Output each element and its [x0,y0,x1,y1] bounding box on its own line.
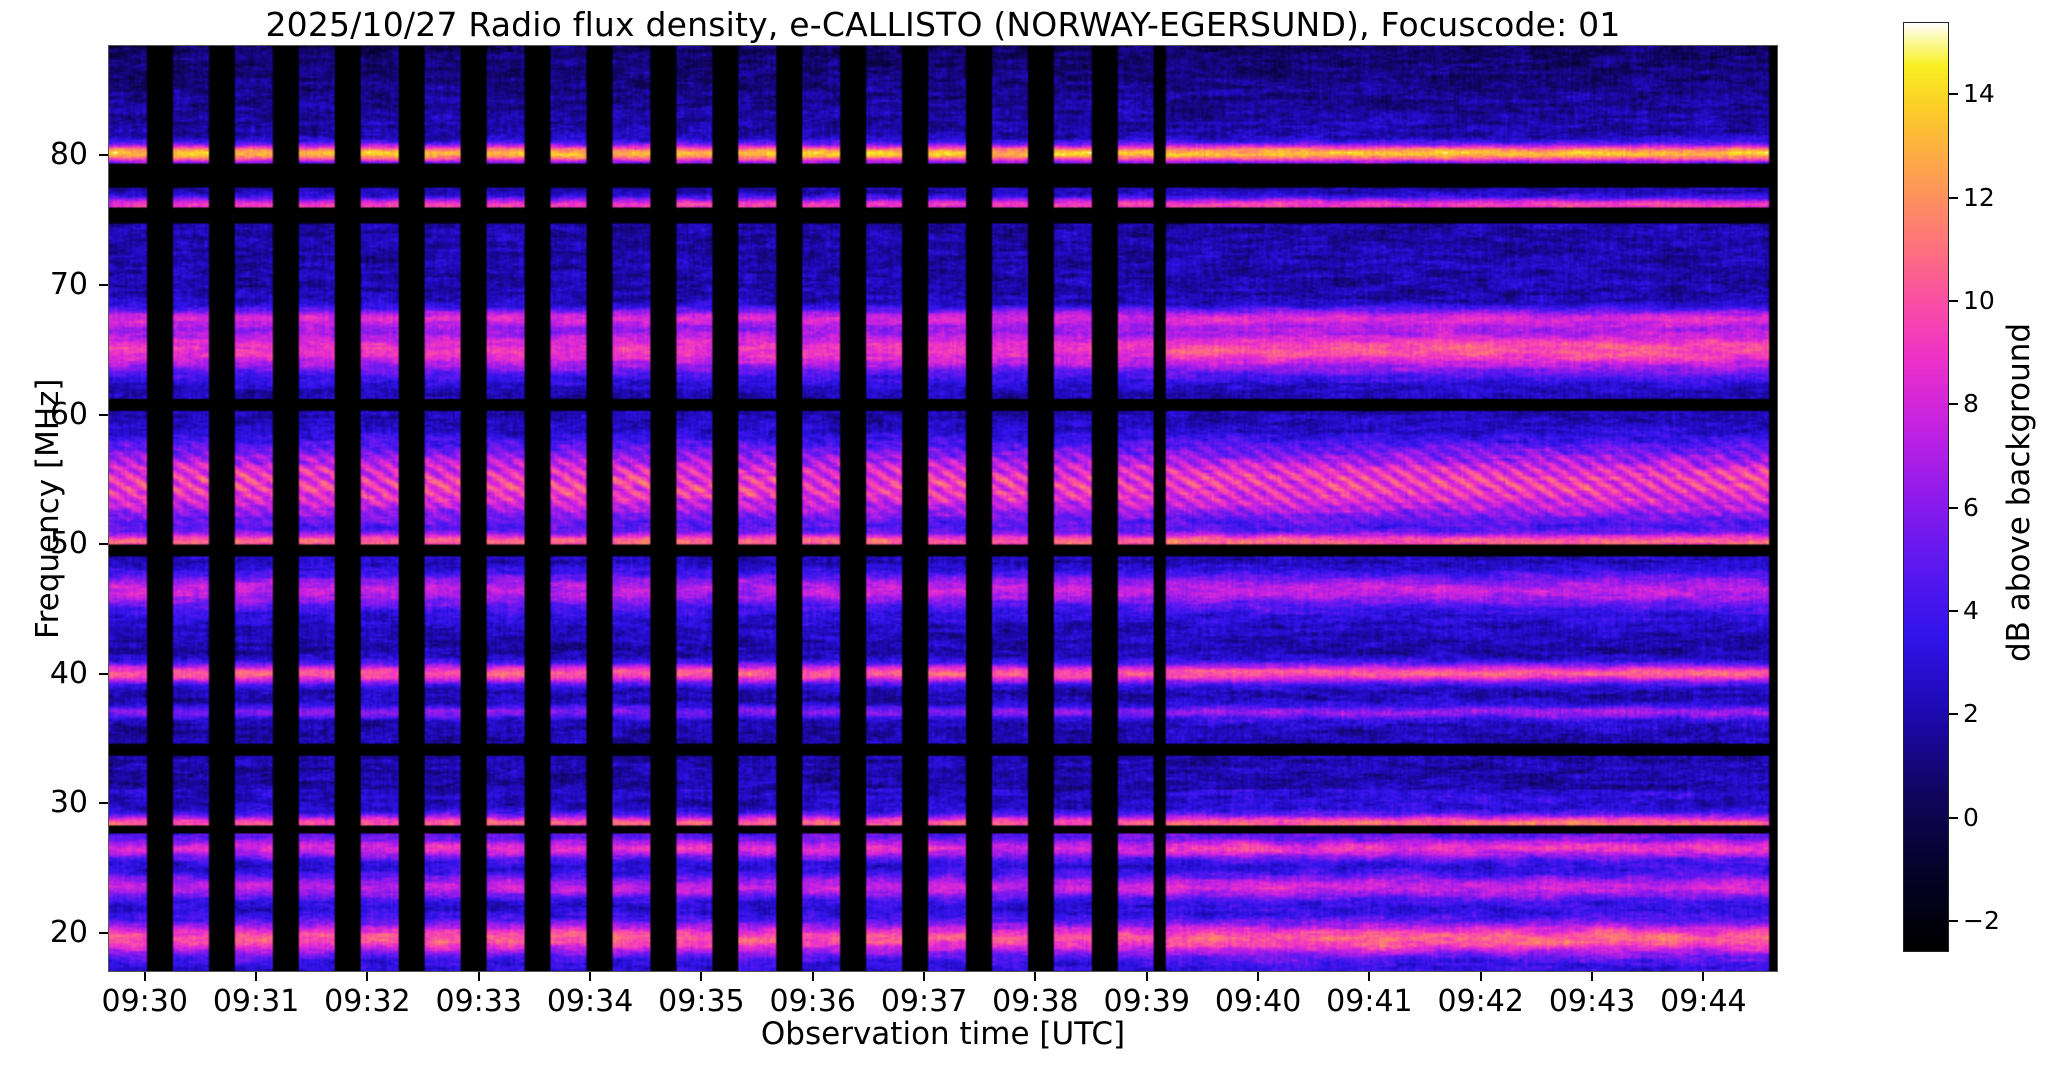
y-tick-label: 20 [18,918,88,948]
colorbar-tick-mark [1949,507,1958,509]
x-tick-mark [1368,972,1370,981]
colorbar-tick-mark [1949,300,1958,302]
y-tick-mark [99,932,108,934]
x-tick-mark [700,972,702,981]
y-tick-mark [99,673,108,675]
x-tick-label: 09:44 [1623,986,1783,1018]
colorbar-tick-mark [1949,610,1958,612]
colorbar-tick-label: 2 [1963,701,1979,726]
page-title: 2025/10/27 Radio flux density, e-CALLIST… [108,6,1778,44]
y-tick-mark [99,543,108,545]
colorbar-tick-label: 6 [1963,495,1979,520]
colorbar-tick-mark [1949,817,1958,819]
x-tick-mark [478,972,480,981]
colorbar-tick-label: −2 [1963,908,2000,933]
x-tick-mark [589,972,591,981]
x-tick-mark [1034,972,1036,981]
colorbar-tick-mark [1949,197,1958,199]
x-tick-mark [1257,972,1259,981]
x-tick-mark [1702,972,1704,981]
x-tick-mark [1146,972,1148,981]
colorbar-label: dB above background [2001,323,2037,662]
y-axis-label: Frequency [MHz] [30,378,66,639]
y-tick-mark [99,802,108,804]
y-tick-label: 80 [18,140,88,170]
x-tick-mark [144,972,146,981]
colorbar-tick-label: 12 [1963,185,1995,210]
x-axis-label: Observation time [UTC] [108,1016,1778,1052]
y-tick-label: 70 [18,270,88,300]
colorbar-tick-label: 4 [1963,598,1979,623]
colorbar-tick-label: 8 [1963,391,1979,416]
y-tick-label: 40 [18,659,88,689]
colorbar-tick-label: 14 [1963,81,1995,106]
spectrogram-plot-area [108,45,1778,972]
colorbar-gradient [1904,23,1948,951]
x-tick-mark [812,972,814,981]
x-tick-mark [255,972,257,981]
colorbar-tick-label: 0 [1963,805,1979,830]
x-tick-mark [923,972,925,981]
colorbar-tick-mark [1949,713,1958,715]
x-tick-mark [1480,972,1482,981]
y-tick-mark [99,154,108,156]
colorbar-tick-mark [1949,403,1958,405]
y-tick-mark [99,284,108,286]
colorbar-tick-label: 10 [1963,288,1995,313]
x-tick-mark [1591,972,1593,981]
spectrogram-figure: 2025/10/27 Radio flux density, e-CALLIST… [0,0,2047,1067]
colorbar-tick-mark [1949,93,1958,95]
y-tick-label: 30 [18,788,88,818]
x-tick-mark [366,972,368,981]
colorbar [1903,22,1949,952]
y-tick-mark [99,414,108,416]
colorbar-tick-mark [1949,920,1958,922]
spectrogram-image [109,46,1777,971]
